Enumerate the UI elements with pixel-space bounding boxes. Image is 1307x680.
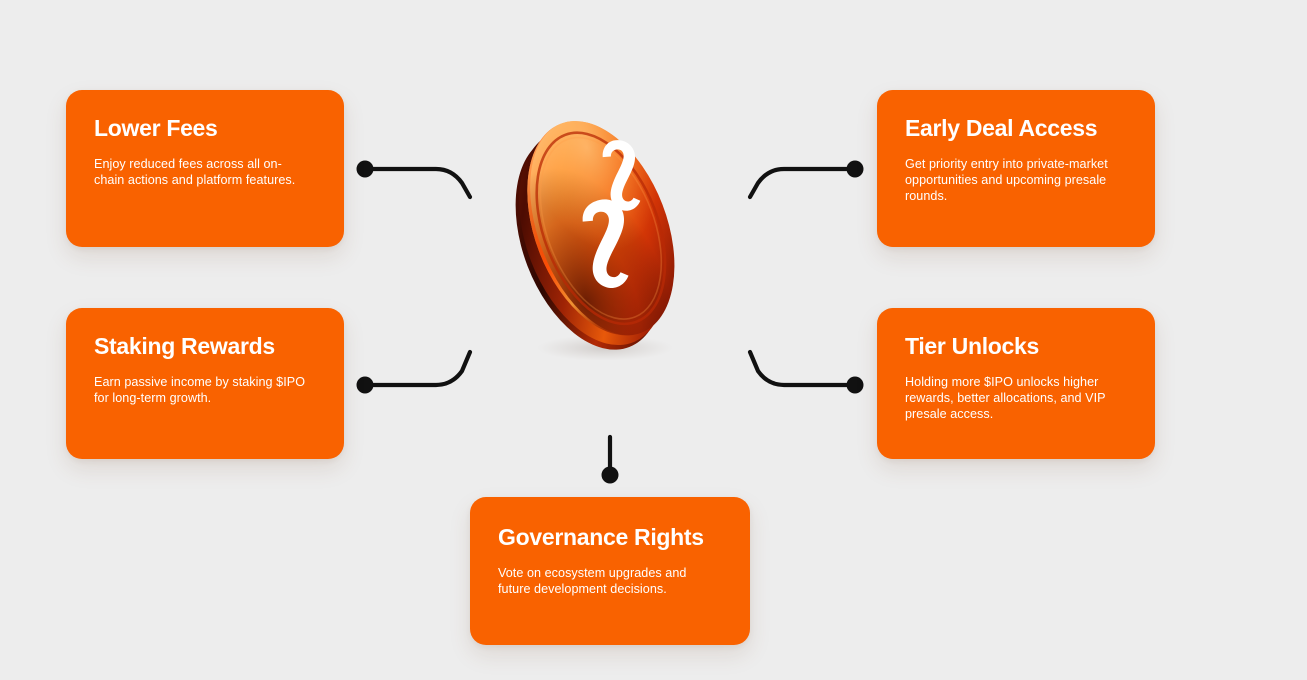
benefit-card-staking-rewards[interactable]: Staking Rewards Earn passive income by s… (66, 308, 344, 459)
card-description: Holding more $IPO unlocks higher rewards… (905, 374, 1120, 423)
card-title: Tier Unlocks (905, 334, 1127, 360)
card-title: Governance Rights (498, 525, 722, 551)
benefit-card-early-deal-access[interactable]: Early Deal Access Get priority entry int… (877, 90, 1155, 247)
benefit-card-tier-unlocks[interactable]: Tier Unlocks Holding more $IPO unlocks h… (877, 308, 1155, 459)
card-description: Enjoy reduced fees across all on-chain a… (94, 156, 309, 188)
connector-bottom-center-dot (602, 467, 619, 484)
benefit-card-governance-rights[interactable]: Governance Rights Vote on ecosystem upgr… (470, 497, 750, 645)
connector-top-right-line (750, 169, 848, 197)
benefit-card-lower-fees[interactable]: Lower Fees Enjoy reduced fees across all… (66, 90, 344, 247)
connector-bottom-right-line (750, 352, 848, 385)
coin-icon (493, 98, 705, 360)
card-title: Early Deal Access (905, 116, 1127, 142)
connector-top-left-dot (357, 161, 374, 178)
connector-top-left-line (372, 169, 470, 197)
card-description: Get priority entry into private-market o… (905, 156, 1115, 205)
benefits-diagram: Lower Fees Enjoy reduced fees across all… (0, 0, 1307, 680)
card-description: Vote on ecosystem upgrades and future de… (498, 565, 722, 597)
connector-bottom-left-line (372, 352, 470, 385)
card-description: Earn passive income by staking $IPO for … (94, 374, 309, 406)
connector-bottom-left-dot (357, 377, 374, 394)
ipo-coin-graphic (493, 98, 705, 360)
card-title: Staking Rewards (94, 334, 316, 360)
connector-top-right-dot (847, 161, 864, 178)
card-title: Lower Fees (94, 116, 316, 142)
connector-bottom-right-dot (847, 377, 864, 394)
